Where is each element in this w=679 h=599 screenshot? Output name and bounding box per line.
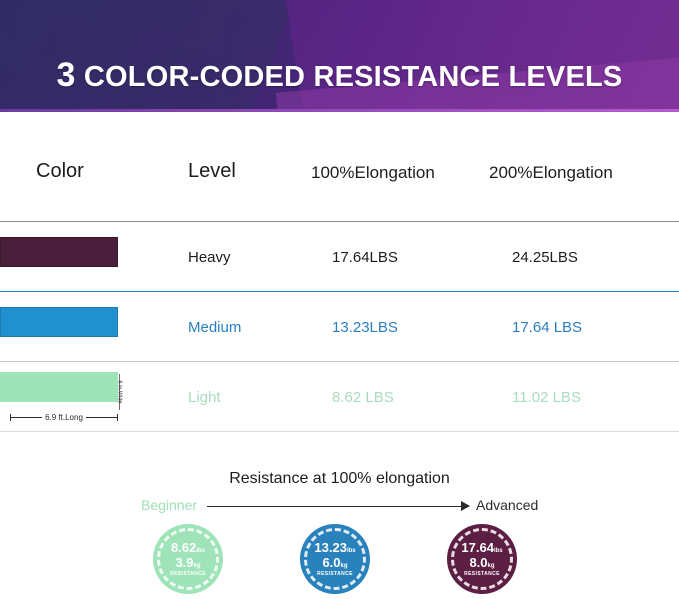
- table-header-row: Color Level 100%Elongation 200%Elongatio…: [0, 112, 679, 222]
- dimension-width-label: 6 in.Wide: [116, 381, 122, 404]
- badge-lbs: 8.62lbs: [171, 541, 205, 554]
- badge-label: RESISTANCE: [317, 571, 353, 577]
- color-swatch-medium: [0, 307, 118, 337]
- scale-arrow-icon: [207, 506, 469, 507]
- column-header-elongation-200: 200%Elongation: [489, 163, 613, 183]
- scale-label-advanced: Advanced: [476, 497, 538, 513]
- badge-lbs-value: 17.64: [461, 540, 494, 555]
- badge-kg-value: 6.0: [322, 555, 340, 570]
- resistance-badge-light: 8.62lbs 3.9kg RESISTANCE: [153, 524, 223, 594]
- header-banner: 3 COLOR-CODED RESISTANCE LEVELS: [0, 0, 679, 112]
- resistance-badge-heavy: 17.64lbs 8.0kg RESISTANCE: [447, 524, 517, 594]
- column-header-level: Level: [188, 160, 236, 183]
- title-number: 3: [57, 56, 76, 94]
- badge-kg: 3.9kg: [175, 556, 200, 569]
- resistance-badges: 8.62lbs 3.9kg RESISTANCE 13.23lbs 6.0kg …: [0, 524, 679, 599]
- badge-kg: 8.0kg: [469, 556, 494, 569]
- badge-lbs-unit: lbs: [196, 548, 205, 554]
- scale-axis: Beginner Advanced: [0, 497, 679, 517]
- badge-lbs-unit: lbs: [347, 548, 356, 554]
- dimension-length-cap-right: [117, 414, 118, 421]
- cell-elongation-100: 17.64LBS: [332, 222, 398, 292]
- badge-lbs-unit: lbs: [494, 548, 503, 554]
- cell-level: Light: [188, 362, 221, 432]
- scale-label-beginner: Beginner: [141, 497, 197, 513]
- badge-kg: 6.0kg: [322, 556, 347, 569]
- dimension-width: 6 in.Wide: [112, 374, 126, 410]
- table-row: Heavy 17.64LBS 24.25LBS: [0, 222, 679, 292]
- page-title: 3 COLOR-CODED RESISTANCE LEVELS: [0, 56, 679, 95]
- badge-lbs-value: 8.62: [171, 540, 196, 555]
- badge-label: RESISTANCE: [170, 571, 206, 577]
- row-divider: [0, 431, 679, 432]
- column-header-elongation-100: 100%Elongation: [311, 163, 435, 183]
- scale-title: Resistance at 100% elongation: [0, 470, 679, 488]
- badge-label: RESISTANCE: [464, 571, 500, 577]
- cell-elongation-100: 13.23LBS: [332, 292, 398, 362]
- cell-elongation-200: 24.25LBS: [512, 222, 578, 292]
- color-swatch-light: [0, 372, 118, 402]
- cell-level: Heavy: [188, 222, 231, 292]
- dimension-length-label: 6.9 ft.Long: [42, 413, 86, 422]
- title-text: COLOR-CODED RESISTANCE LEVELS: [84, 61, 623, 93]
- badge-kg-unit: kg: [194, 563, 201, 569]
- color-swatch-heavy: [0, 237, 118, 267]
- badge-kg-unit: kg: [488, 563, 495, 569]
- dimension-length-cap-left: [10, 414, 11, 421]
- table-row: Medium 13.23LBS 17.64 LBS: [0, 292, 679, 362]
- badge-lbs: 13.23lbs: [314, 541, 355, 554]
- badge-kg-value: 3.9: [175, 555, 193, 570]
- badge-kg-value: 8.0: [469, 555, 487, 570]
- cell-elongation-200: 11.02 LBS: [512, 362, 581, 432]
- resistance-badge-medium: 13.23lbs 6.0kg RESISTANCE: [300, 524, 370, 594]
- table-row: 6 in.Wide 6.9 ft.Long Light 8.62 LBS 11.…: [0, 362, 679, 432]
- column-header-color: Color: [36, 160, 84, 183]
- cell-level: Medium: [188, 292, 241, 362]
- dimension-length: 6.9 ft.Long: [10, 410, 118, 424]
- badge-lbs-value: 13.23: [314, 540, 347, 555]
- cell-elongation-100: 8.62 LBS: [332, 362, 394, 432]
- cell-elongation-200: 17.64 LBS: [512, 292, 582, 362]
- resistance-table: Color Level 100%Elongation 200%Elongatio…: [0, 112, 679, 432]
- badge-kg-unit: kg: [341, 563, 348, 569]
- badge-lbs: 17.64lbs: [461, 541, 502, 554]
